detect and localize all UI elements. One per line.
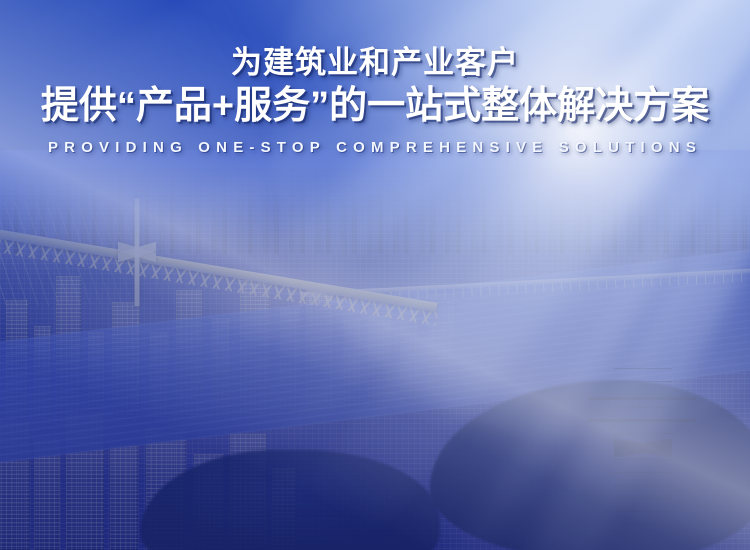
blue-tint-overlay-2 [0,168,750,550]
banner-copy: 为建筑业和产业客户 提供“产品+服务”的一站式整体解决方案 PROVIDING … [0,46,750,156]
headline-line-1: 为建筑业和产业客户 [0,46,750,80]
headline-line-2: 提供“产品+服务”的一站式整体解决方案 [0,86,750,128]
subtitle-english: PROVIDING ONE-STOP COMPREHENSIVE SOLUTIO… [0,139,750,156]
hero-banner: 为建筑业和产业客户 提供“产品+服务”的一站式整体解决方案 PROVIDING … [0,0,750,550]
cityscape-photo [0,168,750,550]
